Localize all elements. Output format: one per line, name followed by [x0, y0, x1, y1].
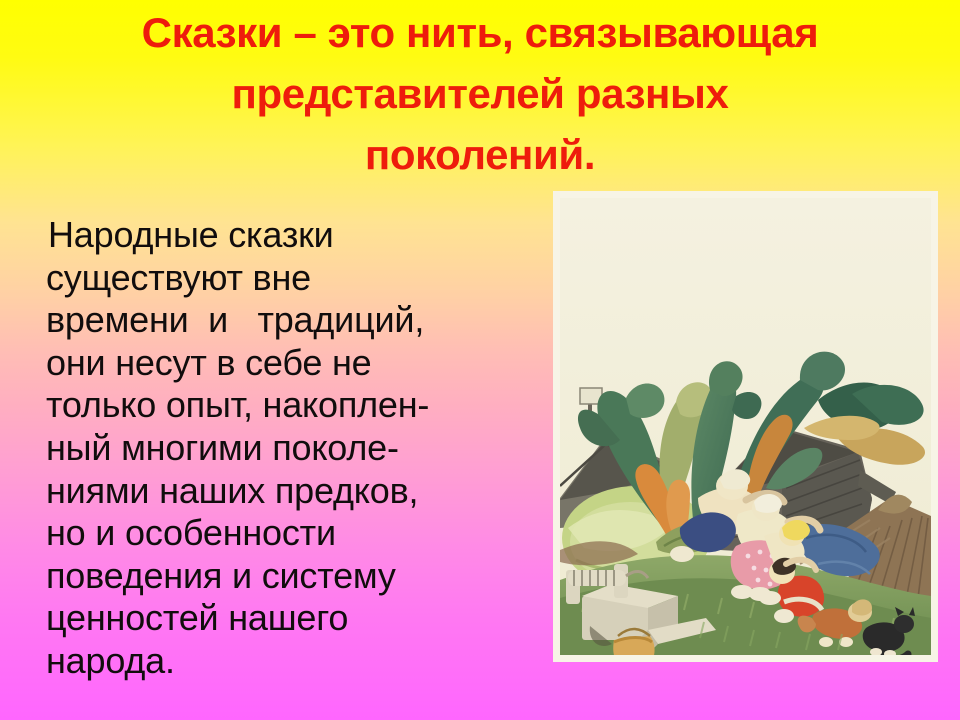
- body-line-6: ный многими поколе-: [46, 427, 546, 470]
- illustration-canvas: [560, 198, 931, 655]
- body-line-8: но и особенности: [46, 512, 546, 555]
- body-line-3: времени и традиций,: [46, 299, 546, 342]
- body-line-1: Народные сказки: [46, 214, 546, 257]
- body-paragraph: Народные сказки существуют вне времени и…: [46, 214, 546, 683]
- repka-illustration: [553, 191, 938, 662]
- title-line-2: представителей разных: [30, 63, 930, 124]
- body-line-5: только опыт, накоплен-: [46, 384, 546, 427]
- repka-illustration-artwork: [560, 198, 931, 655]
- title-line-1: Сказки – это нить, связывающая: [30, 2, 930, 63]
- slide-canvas: Сказки – это нить, связывающая представи…: [0, 0, 960, 720]
- title-line-3: поколений.: [30, 124, 930, 185]
- body-line-10: ценностей нашего: [46, 597, 546, 640]
- page-title: Сказки – это нить, связывающая представи…: [30, 2, 930, 185]
- body-line-2: существуют вне: [46, 257, 546, 300]
- body-line-4: они несут в себе не: [46, 342, 546, 385]
- body-line-11: народа.: [46, 640, 546, 683]
- body-line-9: поведения и систему: [46, 555, 546, 598]
- body-line-7: ниями наших предков,: [46, 470, 546, 513]
